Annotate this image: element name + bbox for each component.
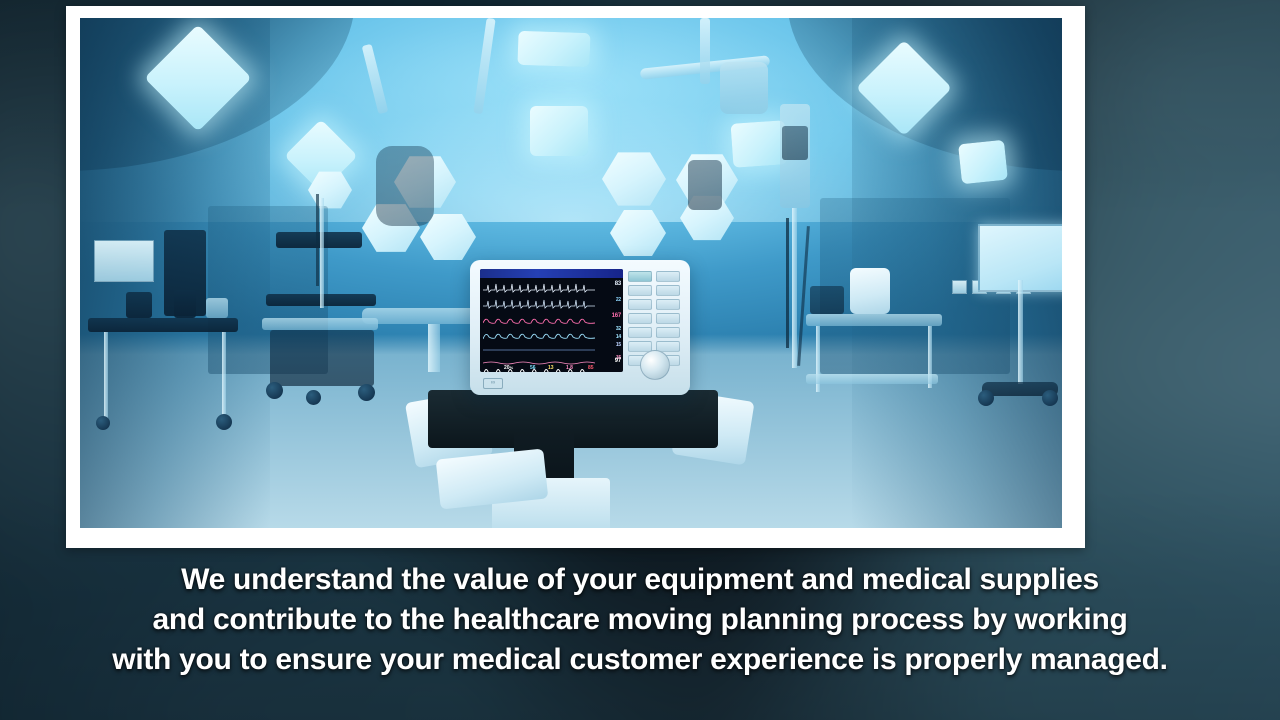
table-leg: [222, 332, 226, 422]
lamp-camera-module: [688, 160, 722, 210]
vital-value-hr: 83: [615, 281, 621, 287]
monitor-key[interactable]: [628, 271, 652, 282]
monitor-status-bar: [480, 269, 623, 278]
slide-caption: We understand the value of your equipmen…: [0, 560, 1280, 680]
caster-wheel: [266, 382, 283, 399]
iv-stand-pole: [1018, 280, 1023, 384]
counter-equipment: [126, 292, 152, 318]
vital-value-spo2: 97: [615, 358, 621, 364]
xray-viewbox: [94, 240, 154, 282]
prep-table-lower-shelf: [806, 374, 938, 384]
photo-frame: 83 22: [66, 6, 1085, 548]
counter-table-left: [88, 318, 238, 332]
waveform-co2: [483, 341, 595, 365]
lamp-mount-bracket: [376, 146, 434, 226]
operating-room-photo: 83 22: [80, 18, 1062, 528]
caster-wheel: [1042, 390, 1058, 406]
monitor-key[interactable]: [656, 299, 680, 310]
monitor-key[interactable]: [656, 271, 680, 282]
counter-equipment: [206, 298, 228, 318]
anesthesia-cart-tray: [262, 318, 378, 330]
patient-vitals-monitor[interactable]: 83 22: [470, 260, 690, 395]
caster-wheel: [978, 390, 994, 406]
ceiling-boom-arm: [700, 18, 710, 84]
ceiling-light-panel: [731, 120, 788, 168]
monitor-key[interactable]: [628, 299, 652, 310]
vital-value-pap: 15: [616, 343, 621, 348]
equipment-cable: [786, 218, 789, 348]
ceiling-light-panel: [530, 106, 588, 156]
caster-wheel: [358, 384, 375, 401]
monitor-key[interactable]: [628, 313, 652, 324]
caption-line-1: We understand the value of your equipmen…: [0, 560, 1280, 600]
prep-table-right: [806, 314, 942, 326]
pendant-module: [782, 126, 808, 160]
readout-box: 13: [548, 366, 554, 372]
operating-room-scene: 83 22: [80, 18, 1062, 528]
anesthesia-cart-body: [270, 330, 374, 386]
caption-line-2: and contribute to the healthcare moving …: [0, 600, 1280, 640]
wall-outlet: [952, 280, 967, 294]
monitor-key[interactable]: [656, 327, 680, 338]
caster-wheel: [216, 414, 232, 430]
prep-table-equipment: [810, 286, 844, 314]
monitor-key[interactable]: [656, 313, 680, 324]
vital-value-cvp: 14: [616, 335, 621, 340]
anesthesia-cart: [276, 232, 362, 248]
caster-wheel: [96, 416, 110, 430]
operating-table-pedestal: [428, 324, 440, 372]
slide-root: 83 22: [0, 0, 1280, 720]
iv-pole: [320, 198, 324, 308]
caster-wheel: [306, 390, 321, 405]
rotary-control-knob[interactable]: [640, 350, 670, 380]
monitor-key[interactable]: [628, 285, 652, 296]
equipment-cable: [316, 194, 319, 286]
pendant-pole: [792, 208, 797, 368]
monitor-screen: 83 22: [480, 269, 623, 372]
waveform-ecg-2: [483, 297, 595, 310]
sterile-drape: [850, 268, 890, 314]
monitor-brand-mark: ∞: [483, 378, 503, 389]
readout-box: 85: [588, 366, 594, 372]
equipment-cable: [797, 226, 810, 366]
readout-box: 56: [530, 366, 536, 372]
vital-value-temp: 32: [616, 327, 621, 332]
readout-box: 20%: [504, 366, 513, 372]
ceiling-light-panel: [517, 31, 590, 67]
readout-box: 1.8: [566, 366, 573, 372]
ceiling-light-panel: [958, 140, 1008, 185]
vital-value-rr: 22: [616, 298, 621, 303]
waveform-arterial: [483, 313, 595, 326]
caption-line-3: with you to ensure your medical customer…: [0, 640, 1280, 680]
monitor-key[interactable]: [628, 327, 652, 338]
vital-value-abp: 167: [612, 313, 621, 319]
counter-equipment: [174, 290, 196, 318]
monitor-key[interactable]: [656, 285, 680, 296]
table-leg: [104, 332, 108, 422]
waveform-ecg-1: [483, 281, 595, 294]
ceiling-cylinder-fixture: [720, 62, 768, 114]
